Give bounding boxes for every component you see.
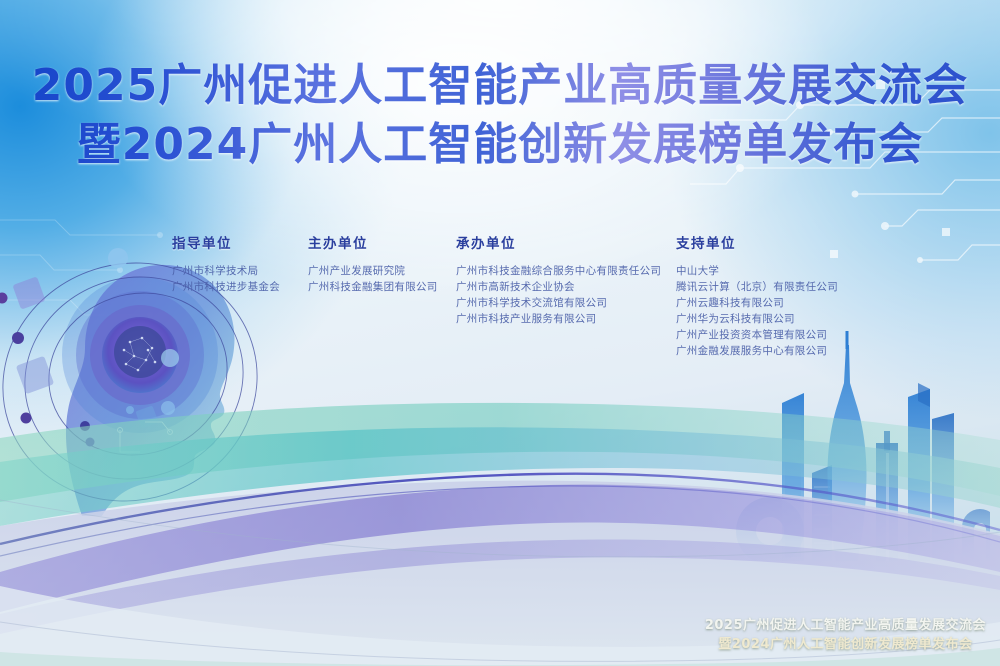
org-item: 广州市科技金融综合服务中心有限责任公司 [456,263,661,279]
org-item: 广州市高新技术企业协会 [456,279,661,295]
org-heading: 支持单位 [676,232,838,252]
org-item: 广州金融发展服务中心有限公司 [676,343,838,359]
org-heading: 承办单位 [456,232,661,252]
org-item: 广州科技金融集团有限公司 [308,279,438,295]
title-line-1: 2025广州促进人工智能产业高质量发展交流会 [0,58,1000,113]
org-column-guidance: 指导单位 广州市科学技术局 广州市科技进步基金会 [172,232,280,295]
event-title: 2025广州促进人工智能产业高质量发展交流会 暨2024广州人工智能创新发展榜单… [0,58,1000,172]
org-item: 广州云趣科技有限公司 [676,295,838,311]
watermark-line-2: 暨2024广州人工智能创新发展榜单发布会 [705,635,986,654]
org-heading: 指导单位 [172,232,280,252]
org-item: 广州华为云科技有限公司 [676,311,838,327]
org-item: 广州市科学技术局 [172,263,280,279]
bottom-watermark: 2025广州促进人工智能产业高质量发展交流会 暨2024广州人工智能创新发展榜单… [705,616,986,654]
org-column-organizer: 承办单位 广州市科技金融综合服务中心有限责任公司 广州市高新技术企业协会 广州市… [456,232,661,327]
org-column-support: 支持单位 中山大学 腾讯云计算（北京）有限责任公司 广州云趣科技有限公司 广州华… [676,232,838,359]
event-backdrop-poster: 2025广州促进人工智能产业高质量发展交流会 暨2024广州人工智能创新发展榜单… [0,0,1000,666]
org-heading: 主办单位 [308,232,438,252]
org-item: 腾讯云计算（北京）有限责任公司 [676,279,838,295]
org-item: 广州市科技产业服务有限公司 [456,311,661,327]
watermark-line-1: 2025广州促进人工智能产业高质量发展交流会 [705,616,986,635]
title-line-2: 暨2024广州人工智能创新发展榜单发布会 [0,117,1000,172]
org-column-host: 主办单位 广州产业发展研究院 广州科技金融集团有限公司 [308,232,438,295]
org-item: 广州市科学技术交流馆有限公司 [456,295,661,311]
org-item: 广州产业发展研究院 [308,263,438,279]
org-item: 广州市科技进步基金会 [172,279,280,295]
org-item: 中山大学 [676,263,838,279]
org-item: 广州产业投资资本管理有限公司 [676,327,838,343]
